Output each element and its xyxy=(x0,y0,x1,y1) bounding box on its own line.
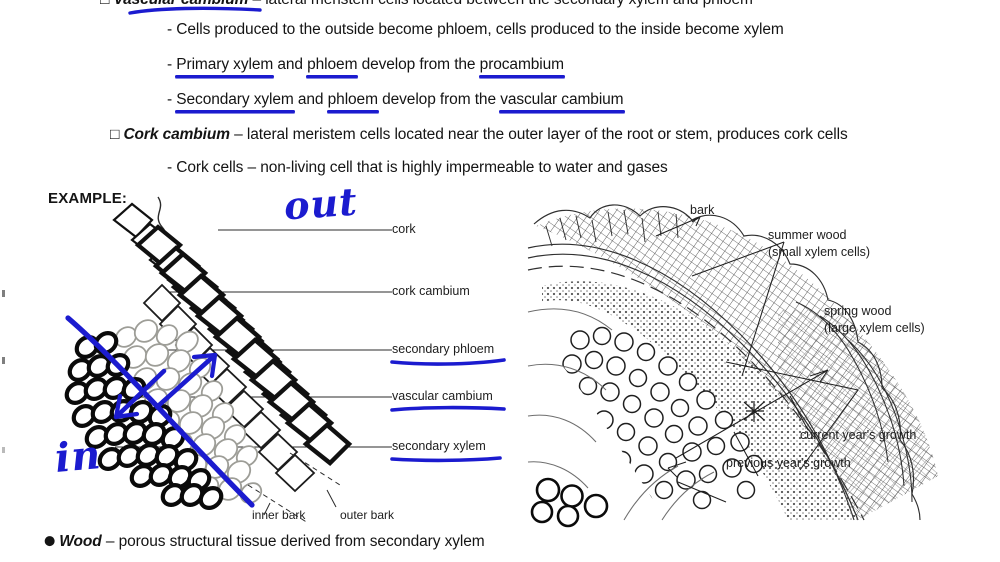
outline-text-wood: – porous structural tissue derived from … xyxy=(102,533,485,550)
label-spring-wood-line2: (large xylem cells) xyxy=(824,320,925,337)
outline-text-cells-produced: - Cells produced to the outside become p… xyxy=(167,21,784,38)
outline-text-cork-cambium: – lateral meristem cells located near th… xyxy=(230,126,848,143)
term-wood: Wood xyxy=(59,533,101,550)
label-vascular-cambium-text: vascular cambium xyxy=(392,389,493,403)
label-secondary-xylem: secondary xylem xyxy=(392,439,486,453)
outline-marker-dash-2: - xyxy=(167,91,176,108)
outline-line-cork-cambium: □ Cork cambium – lateral meristem cells … xyxy=(110,126,848,144)
label-secondary-xylem-text: secondary xylem xyxy=(392,439,486,453)
scan-artifact-mark-3 xyxy=(2,447,5,453)
label-previous-years-growth: previous year's growth xyxy=(726,456,851,470)
label-cork-cambium-text: cork cambium xyxy=(392,284,470,298)
label-cork-cambium: cork cambium xyxy=(392,284,470,298)
term-cork-cambium: Cork cambium xyxy=(123,126,229,143)
scan-artifact-mark-2 xyxy=(2,357,5,364)
outline-text-and: and xyxy=(273,56,307,73)
label-cork: cork xyxy=(392,222,416,236)
highlight-phloem-2: phloem xyxy=(328,91,378,109)
outline-line-cork-cells: - Cork cells – non-living cell that is h… xyxy=(167,159,668,177)
pith-edge-cells xyxy=(532,479,607,526)
scan-artifact-mark-1 xyxy=(2,290,5,297)
outline-text-cork-cells: - Cork cells – non-living cell that is h… xyxy=(167,159,668,176)
out-annotation-text: out xyxy=(283,178,359,228)
outline-line-vascular-cambium: □ Vascular cambium – lateral meristem ce… xyxy=(100,0,753,9)
label-spring-wood: spring wood (large xylem cells) xyxy=(824,303,925,337)
outline-text-develop-from: develop from the xyxy=(357,56,479,73)
outline-marker-bullet: ● xyxy=(44,534,59,549)
outline-line-wood: ● Wood – porous structural tissue derive… xyxy=(44,533,485,551)
label-current-years-growth-text: current year's growth xyxy=(800,428,916,442)
label-current-years-growth: current year's growth xyxy=(800,428,916,442)
outline-text-develop-from-2: develop from the xyxy=(378,91,500,108)
left-diagram: cork cork cambium secondary phloem vascu… xyxy=(40,185,520,530)
outline-marker-square: □ xyxy=(100,0,113,8)
label-summer-wood-line1: summer wood xyxy=(768,227,870,244)
highlight-secondary-xylem: Secondary xylem xyxy=(176,91,293,109)
label-secondary-phloem-text: secondary phloem xyxy=(392,342,494,356)
term-vascular-cambium: Vascular cambium xyxy=(113,0,248,8)
outline-line-secondary-xylem: - Secondary xylem and phloem develop fro… xyxy=(167,91,624,109)
out-annotation: out xyxy=(283,178,359,228)
label-bark-text: bark xyxy=(690,203,714,217)
label-outer-bark-text: outer bark xyxy=(340,508,394,522)
label-summer-wood: summer wood (small xylem cells) xyxy=(768,227,870,261)
label-vascular-cambium: vascular cambium xyxy=(392,389,493,403)
highlight-primary-xylem: Primary xylem xyxy=(176,56,273,74)
label-cork-text: cork xyxy=(392,222,416,236)
outline-marker-square-2: □ xyxy=(110,126,123,143)
in-annotation-text: in xyxy=(53,431,103,482)
highlight-vascular-cambium: vascular cambium xyxy=(500,91,623,109)
in-annotation: in xyxy=(53,431,103,482)
label-summer-wood-line2: (small xylem cells) xyxy=(768,244,870,261)
label-inner-bark: inner bark xyxy=(252,508,305,522)
label-spring-wood-line1: spring wood xyxy=(824,303,925,320)
outline-text-vascular-cambium: – lateral meristem cells located between… xyxy=(248,0,753,8)
outline-line-primary-xylem: - Primary xylem and phloem develop from … xyxy=(167,56,564,74)
label-secondary-phloem: secondary phloem xyxy=(392,342,494,356)
outline-line-cells-produced: - Cells produced to the outside become p… xyxy=(167,21,784,39)
label-previous-years-growth-text: previous year's growth xyxy=(726,456,851,470)
right-diagram-drawing xyxy=(528,190,1000,520)
right-diagram: bark summer wood (small xylem cells) spr… xyxy=(528,190,1000,520)
left-diagram-drawing xyxy=(40,185,520,530)
outline-text-and-2: and xyxy=(294,91,328,108)
label-bark: bark xyxy=(690,203,714,217)
outline-marker-dash: - xyxy=(167,56,176,73)
highlight-phloem: phloem xyxy=(307,56,357,74)
label-outer-bark: outer bark xyxy=(340,508,394,522)
label-inner-bark-text: inner bark xyxy=(252,508,305,522)
highlight-procambium: procambium xyxy=(480,56,564,74)
